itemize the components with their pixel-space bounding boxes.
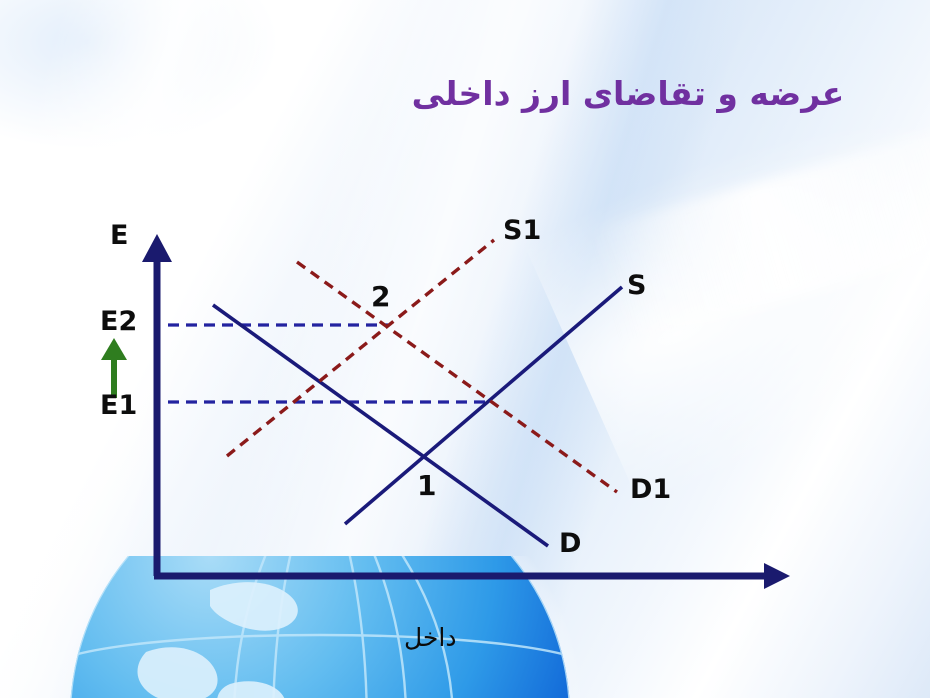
price-label-e1: E1: [100, 392, 137, 419]
curve-label-s: S: [627, 272, 646, 299]
curve-label-d1: D1: [630, 476, 671, 503]
x-axis: [154, 563, 790, 589]
equilibrium-label-two: 2: [371, 283, 390, 311]
equilibrium-label-one: 1: [417, 472, 436, 500]
price-label-e2: E2: [100, 308, 137, 335]
curve-label-d: D: [559, 530, 581, 557]
curve-label-s1: S1: [503, 217, 541, 244]
axis-label-e: E: [110, 222, 128, 249]
supply-demand-chart: [0, 0, 930, 698]
slide-canvas: عرضه و تقاضای ارز داخلی E E2 E1 S1: [0, 0, 930, 698]
curve-demand-shifted: [297, 262, 617, 492]
curve-demand: [213, 305, 548, 546]
price-rise-arrow-icon: [101, 338, 127, 398]
curve-supply-shifted: [227, 240, 494, 456]
axis-label-dakhel: داخل: [404, 623, 456, 652]
y-axis: [142, 234, 172, 576]
curve-supply: [345, 287, 622, 524]
